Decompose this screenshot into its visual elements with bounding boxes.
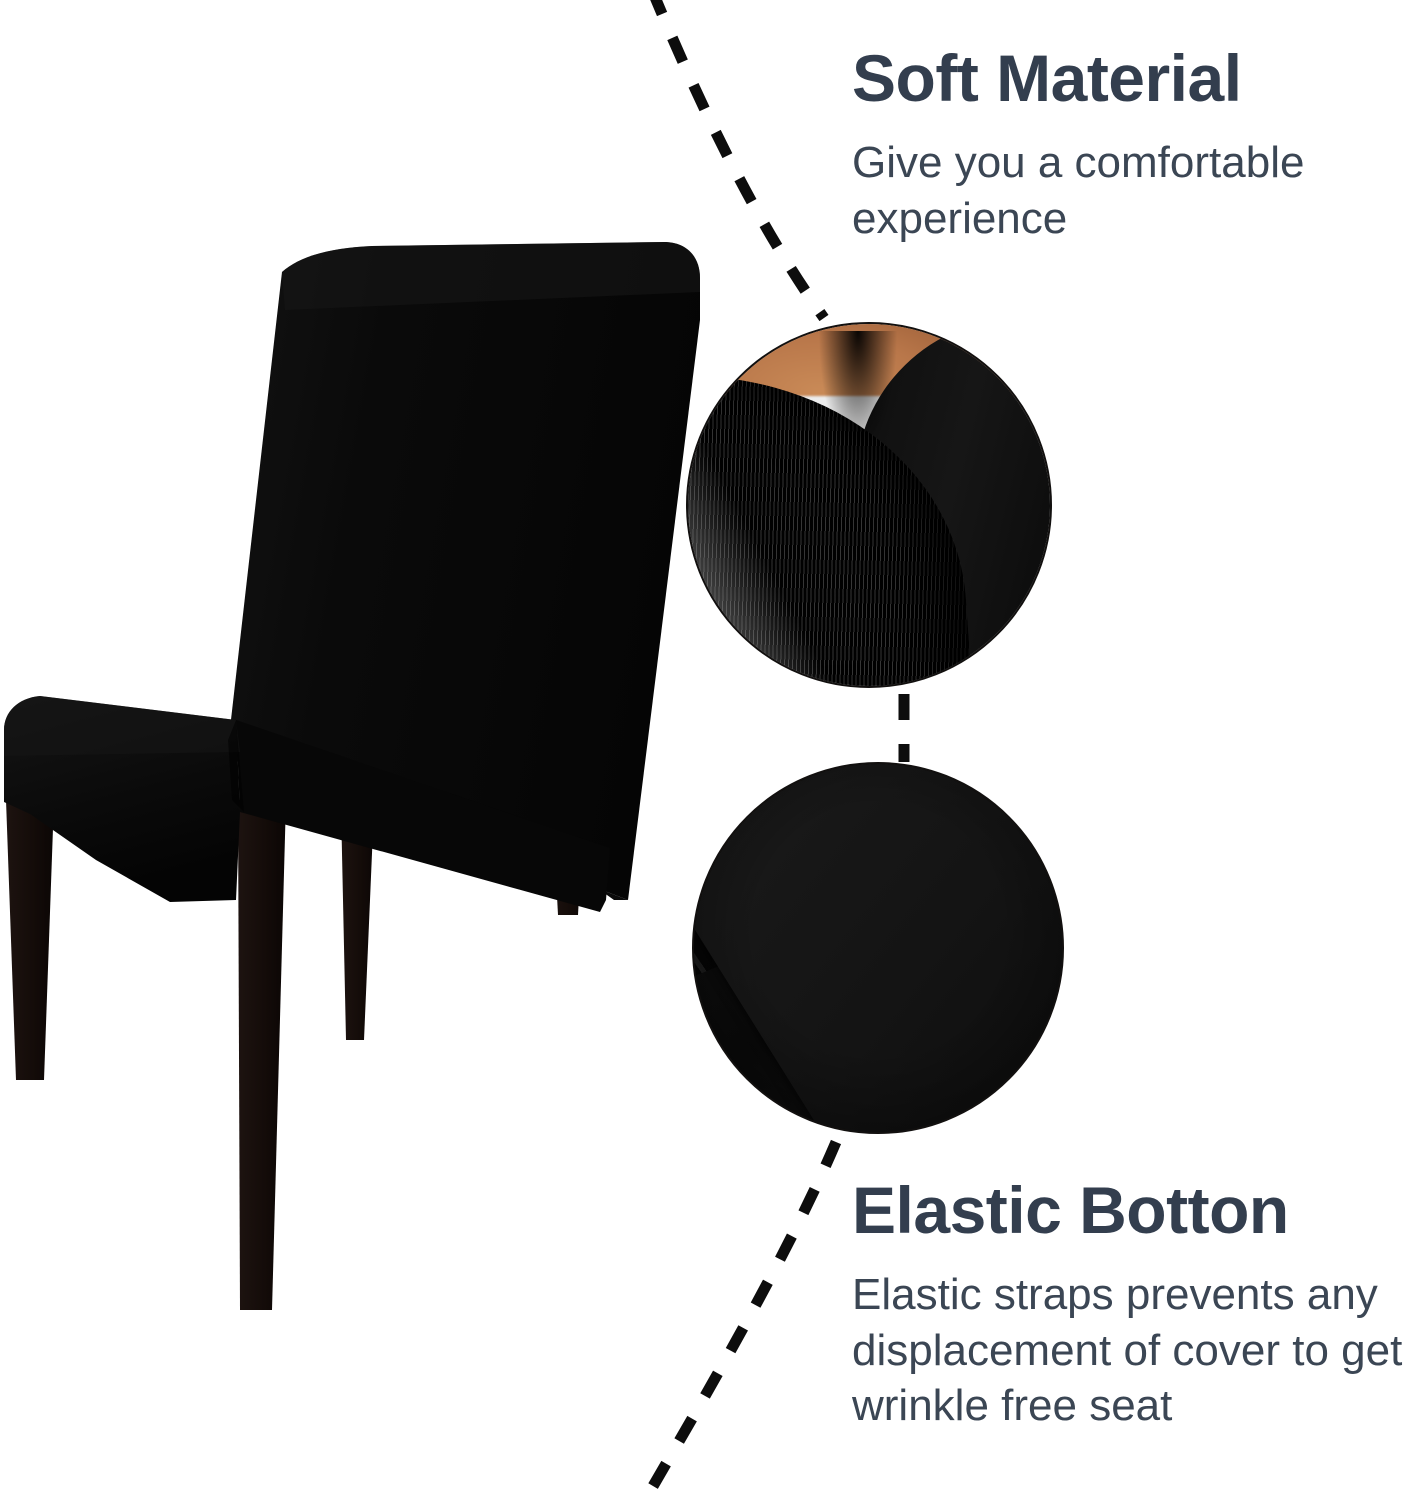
elastic-band-macro-photo bbox=[694, 764, 1062, 1132]
feature-body-soft-material: Give you a comfortable experience bbox=[852, 135, 1412, 246]
chair-leg-front-right bbox=[238, 800, 286, 1310]
feature-block-soft-material: Soft Material Give you a comfortable exp… bbox=[852, 44, 1412, 246]
feature-heading-elastic-bottom: Elastic Botton bbox=[852, 1176, 1412, 1245]
detail-circle-soft-material bbox=[686, 322, 1052, 688]
chair-leg-front-left bbox=[6, 800, 54, 1080]
detail-circle-elastic-bottom bbox=[692, 762, 1064, 1134]
product-photo-chair bbox=[0, 200, 720, 1360]
feature-heading-soft-material: Soft Material bbox=[852, 44, 1412, 113]
feature-body-elastic-bottom: Elastic straps prevents any displacement… bbox=[852, 1267, 1412, 1433]
soft-material-macro-photo bbox=[688, 324, 1050, 686]
product-feature-infographic: Soft Material Give you a comfortable exp… bbox=[0, 0, 1427, 1500]
feature-block-elastic-bottom: Elastic Botton Elastic straps prevents a… bbox=[852, 1176, 1412, 1434]
